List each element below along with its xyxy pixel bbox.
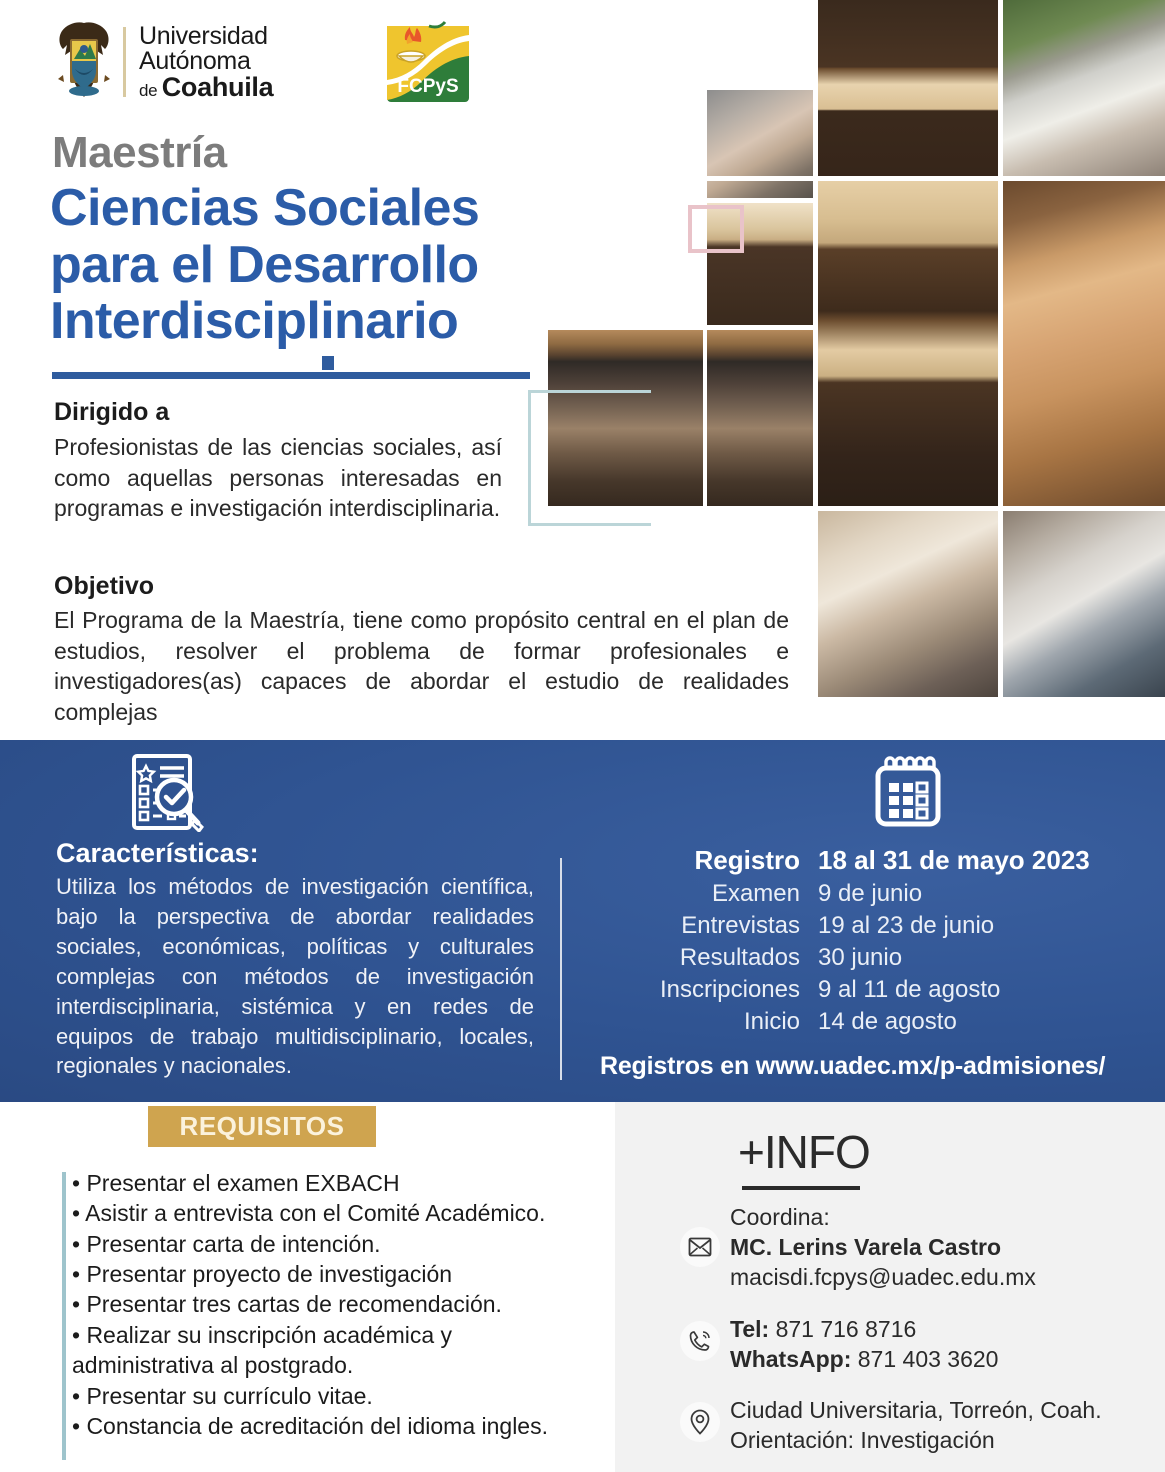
photo-woman-reading <box>1003 181 1165 506</box>
caracteristicas-body: Utiliza los métodos de investigación cie… <box>56 872 534 1081</box>
tel-label: Tel: <box>730 1316 769 1342</box>
uadec-line-2: Autónoma <box>139 49 273 74</box>
schedule-label: Examen <box>610 880 800 908</box>
uadec-line-3-prefix: de <box>139 81 162 100</box>
requisito-item: • Constancia de acreditación del idioma … <box>72 1411 582 1441</box>
envelope-icon <box>680 1227 720 1267</box>
info-title: +INFO <box>738 1125 870 1179</box>
requisitos-badge: REQUISITOS <box>148 1106 376 1147</box>
photo-books-outdoor <box>1003 0 1165 176</box>
requisito-item: • Presentar carta de intención. <box>72 1229 582 1259</box>
column-divider <box>560 858 562 1080</box>
info-email-text: Coordina: MC. Lerins Varela Castro macis… <box>730 1203 1036 1293</box>
caracteristicas-heading: Características: <box>56 838 259 869</box>
requisito-item: • Realizar su inscripción académica y <box>72 1320 582 1350</box>
schedule-value: 18 al 31 de mayo 2023 <box>818 845 1130 876</box>
checklist-magnifier-icon <box>122 752 208 837</box>
address-line-2: Orientación: Investigación <box>730 1426 1102 1456</box>
fcpys-logo-icon: FCPyS <box>383 18 473 106</box>
info-row-location: Ciudad Universitaria, Torreón, Coah. Ori… <box>680 1396 1150 1456</box>
fcpys-acronym-text: FCPyS <box>398 76 459 97</box>
schedule-value: 9 de junio <box>818 880 1130 908</box>
schedule-label: Entrevistas <box>610 912 800 940</box>
requisito-item: • Presentar su currículo vitae. <box>72 1381 582 1411</box>
registration-url-note: Registros en www.uadec.mx/p-admisiones/ <box>600 1052 1105 1081</box>
coordinator-email[interactable]: macisdi.fcpys@uadec.edu.mx <box>730 1263 1036 1293</box>
photo-bookshelf-top <box>818 0 998 176</box>
title-line-3: Interdisciplinario <box>50 293 670 350</box>
info-rows: Coordina: MC. Lerins Varela Castro macis… <box>680 1203 1150 1472</box>
schedule-label: Resultados <box>610 944 800 972</box>
whatsapp-line: WhatsApp: 871 403 3620 <box>730 1345 998 1375</box>
schedule-label: Inscripciones <box>610 976 800 1004</box>
uadec-line-1: Universidad <box>139 24 273 49</box>
coordina-label: Coordina: <box>730 1203 1036 1233</box>
location-pin-icon <box>680 1402 720 1442</box>
schedule-value: 19 al 23 de junio <box>818 912 1130 940</box>
objetivo-heading: Objetivo <box>54 572 154 601</box>
decor-frame-pink <box>688 205 744 253</box>
tel-value: 871 716 8716 <box>776 1316 917 1342</box>
logo-divider <box>123 27 126 97</box>
decor-frame-teal <box>528 390 651 526</box>
objetivo-body: El Programa de la Maestría, tiene como p… <box>54 605 789 727</box>
requisitos-list: • Presentar el examen EXBACH• Asistir a … <box>72 1168 582 1441</box>
phone-icon <box>680 1321 720 1361</box>
page-title: Ciencias Sociales para el Desarrollo Int… <box>50 180 670 350</box>
coordinator-name: MC. Lerins Varela Castro <box>730 1233 1036 1263</box>
schedule-value: 14 de agosto <box>818 1008 1130 1036</box>
uadec-line-3-main: Coahuila <box>162 72 274 102</box>
schedule-label: Registro <box>610 845 800 876</box>
title-rule-tick <box>322 356 334 370</box>
dirigido-body: Profesionistas de las ciencias sociales,… <box>54 432 502 524</box>
logo-row: Universidad Autónoma de Coahuila FCPyS <box>55 18 473 106</box>
uadec-logo: Universidad Autónoma de Coahuila <box>55 19 273 105</box>
header-section: Universidad Autónoma de Coahuila FCPyS <box>0 0 1165 740</box>
collage-gutter <box>703 325 818 330</box>
photo-bookshelf-center <box>818 181 998 506</box>
schedule-label: Inicio <box>610 1008 800 1036</box>
photo-person-writing <box>818 511 998 697</box>
info-address-text: Ciudad Universitaria, Torreón, Coah. Ori… <box>730 1396 1102 1456</box>
dirigido-heading: Dirigido a <box>54 398 169 427</box>
poster-root: Universidad Autónoma de Coahuila FCPyS <box>0 0 1165 1472</box>
photo-laptop-work <box>1003 511 1165 697</box>
requisito-item: • Asistir a entrevista con el Comité Aca… <box>72 1198 582 1228</box>
info-phone-text: Tel: 871 716 8716 WhatsApp: 871 403 3620 <box>730 1315 998 1375</box>
schedule-value: 9 al 11 de agosto <box>818 976 1130 1004</box>
photo-students <box>707 90 817 198</box>
requisito-item: • Presentar tres cartas de recomendación… <box>72 1289 582 1319</box>
info-title-underline <box>742 1186 860 1190</box>
uadec-line-3: de Coahuila <box>139 74 273 101</box>
requisito-item: • Presentar proyecto de investigación <box>72 1259 582 1289</box>
schedule-value: 30 junio <box>818 944 1130 972</box>
title-line-1: Ciencias Sociales <box>50 180 670 237</box>
requisito-item: administrativa al postgrado. <box>72 1350 582 1380</box>
info-row-phone: Tel: 871 716 8716 WhatsApp: 871 403 3620 <box>680 1315 1150 1375</box>
uadec-wordmark: Universidad Autónoma de Coahuila <box>139 24 273 101</box>
tel-line: Tel: 871 716 8716 <box>730 1315 998 1345</box>
title-line-2: para el Desarrollo <box>50 237 670 294</box>
collage-gutter <box>998 0 1003 740</box>
info-row-email: Coordina: MC. Lerins Varela Castro macis… <box>680 1203 1150 1293</box>
requisito-item: • Presentar el examen EXBACH <box>72 1168 582 1198</box>
requisitos-accent-rule <box>62 1172 66 1460</box>
title-rule <box>52 372 530 379</box>
calendar-icon <box>868 752 948 837</box>
address-line-1: Ciudad Universitaria, Torreón, Coah. <box>730 1396 1102 1426</box>
uadec-crest-icon <box>55 19 113 105</box>
schedule-table: Registro18 al 31 de mayo 2023Examen9 de … <box>610 845 1130 1036</box>
whatsapp-label: WhatsApp: <box>730 1346 851 1372</box>
kicker-maestria: Maestría <box>52 128 227 178</box>
whatsapp-value: 871 403 3620 <box>858 1346 999 1372</box>
